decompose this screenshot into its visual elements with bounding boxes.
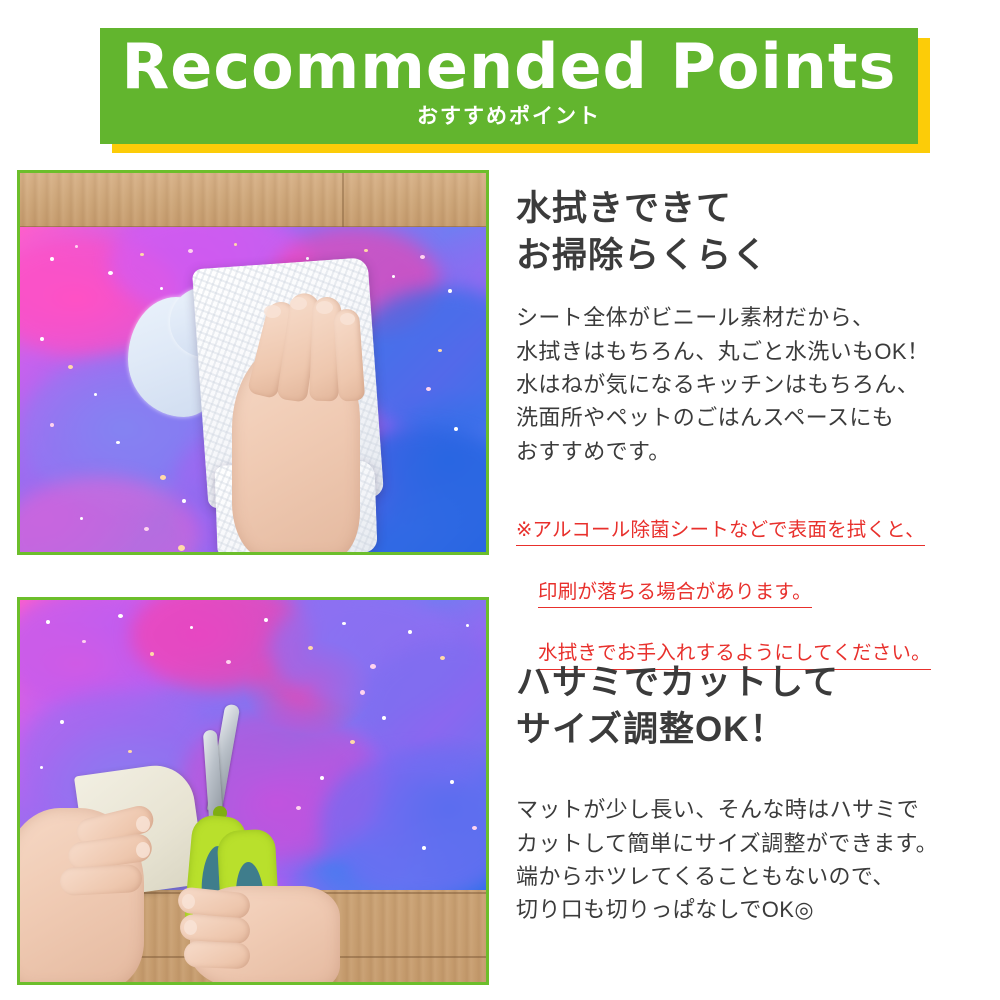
- glitter-speck: [144, 527, 149, 531]
- glitter-speck: [422, 846, 426, 850]
- glitter-speck: [420, 255, 425, 259]
- fingernail: [136, 816, 150, 832]
- glitter-speck: [108, 271, 113, 275]
- section-body: マットが少し長い、そんな時はハサミで カットして簡単にサイズ調整ができます。 端…: [516, 793, 938, 927]
- glitter-speck: [426, 387, 431, 391]
- wood-seam: [342, 173, 344, 228]
- section-heading: ハサミでカットして サイズ調整OK！: [516, 660, 938, 753]
- glitter-speck: [118, 614, 123, 618]
- caution-line-2: 印刷が落ちる場合があります。: [538, 577, 812, 608]
- glitter-speck: [40, 337, 44, 341]
- glitter-speck: [392, 275, 395, 278]
- glitter-speck: [75, 245, 78, 248]
- glitter-speck: [182, 499, 186, 503]
- glitter-speck: [150, 652, 154, 656]
- glitter-speck: [94, 393, 97, 396]
- glitter-speck: [50, 423, 54, 427]
- glitter-speck: [350, 740, 355, 744]
- page-title: Recommended Points: [100, 32, 918, 101]
- glitter-speck: [46, 620, 50, 624]
- glitter-speck: [82, 640, 86, 643]
- glitter-speck: [382, 716, 386, 720]
- text-block-water-wipe: 水拭きできて お掃除らくらく シート全体がビニール素材だから、 水拭きはもちろん…: [516, 186, 931, 700]
- fingernail: [182, 894, 195, 909]
- glitter-speck: [308, 646, 313, 650]
- glitter-speck: [140, 253, 144, 256]
- finger: [184, 941, 251, 969]
- glitter-speck: [234, 243, 237, 246]
- glitter-speck: [226, 660, 231, 664]
- header-banner: Recommended Points おすすめポイント: [100, 28, 930, 153]
- fingernail: [340, 313, 355, 325]
- glitter-speck: [296, 806, 301, 810]
- cutting-mat-with-scissors-photo: [17, 597, 489, 985]
- glitter-speck: [360, 690, 365, 695]
- section-heading: 水拭きできて お掃除らくらく: [516, 186, 931, 279]
- glitter-speck: [472, 826, 477, 830]
- section-body: シート全体がビニール素材だから、 水拭きはもちろん、丸ごと水洗いもOK！ 水はね…: [516, 301, 931, 468]
- glitter-speck: [408, 630, 412, 634]
- banner-green-plate: Recommended Points おすすめポイント: [100, 28, 918, 144]
- fingernail: [184, 920, 197, 935]
- glitter-speck: [160, 287, 163, 290]
- glitter-speck: [454, 427, 458, 431]
- glitter-speck: [342, 622, 346, 625]
- fingernail: [290, 297, 307, 310]
- page-subtitle: おすすめポイント: [100, 105, 918, 128]
- glitter-speck: [188, 249, 193, 253]
- glitter-speck: [50, 257, 54, 261]
- glitter-speck: [450, 780, 454, 784]
- glitter-speck: [128, 750, 132, 753]
- glitter-speck: [466, 624, 469, 627]
- finger: [59, 864, 142, 896]
- glitter-speck: [364, 249, 368, 252]
- text-block-scissor-cut: ハサミでカットして サイズ調整OK！ マットが少し長い、そんな時はハサミで カッ…: [516, 660, 938, 927]
- glitter-speck: [438, 349, 442, 352]
- section-water-wipe: [17, 170, 489, 555]
- glitter-speck: [370, 664, 376, 669]
- glitter-speck: [40, 766, 43, 769]
- glitter-speck: [68, 365, 73, 369]
- fingernail: [264, 305, 281, 318]
- glitter-speck: [60, 720, 64, 724]
- glitter-speck: [306, 257, 309, 260]
- glitter-speck: [440, 656, 445, 660]
- section-scissor-cut: [17, 597, 489, 985]
- wiping-mat-with-towel-photo: [17, 170, 489, 555]
- glitter-speck: [160, 475, 166, 480]
- glitter-speck: [264, 618, 268, 622]
- glitter-speck: [178, 545, 185, 551]
- glitter-speck: [320, 776, 324, 780]
- caution-line-1: ※アルコール除菌シートなどで表面を拭くと、: [516, 515, 925, 546]
- fingernail: [316, 301, 333, 314]
- glitter-speck: [80, 517, 83, 520]
- wood-floor: [20, 173, 486, 228]
- fingernail: [136, 842, 150, 858]
- glitter-speck: [116, 441, 120, 444]
- glitter-speck: [190, 626, 193, 629]
- glitter-speck: [448, 289, 452, 293]
